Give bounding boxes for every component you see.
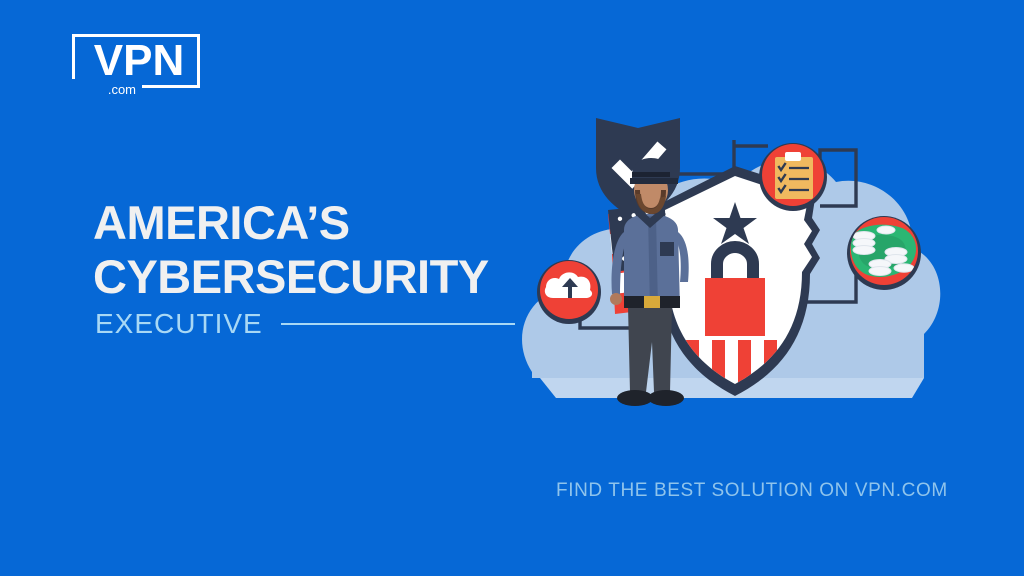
vpn-logo-dotcom: .com bbox=[72, 79, 142, 101]
subheading-text: EXECUTIVE bbox=[95, 308, 263, 340]
banner-root: VPN .com AMERICA’S CYBERSECURITY EXECUTI… bbox=[0, 0, 1024, 576]
cybersecurity-hero-illustration bbox=[520, 110, 950, 440]
subheading-rule bbox=[281, 323, 515, 325]
money-funding-icon bbox=[847, 216, 921, 290]
subheading-row: EXECUTIVE bbox=[95, 308, 515, 340]
headline-line-1: AMERICA’S bbox=[93, 196, 553, 250]
page-title: AMERICA’S CYBERSECURITY bbox=[93, 196, 553, 304]
checklist-clipboard-icon bbox=[759, 143, 827, 211]
cloud-upload-icon bbox=[537, 260, 601, 324]
headline-line-2: CYBERSECURITY bbox=[93, 250, 553, 304]
vpn-logo-text: VPN bbox=[75, 37, 203, 85]
footer-tagline: FIND THE BEST SOLUTION ON VPN.COM bbox=[556, 480, 948, 502]
